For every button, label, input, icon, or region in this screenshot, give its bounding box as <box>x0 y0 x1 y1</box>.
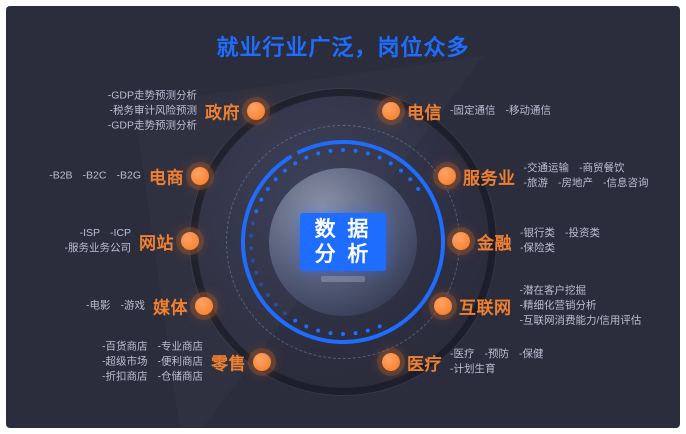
sub-items: -潜在客户挖掘-精细化营销分析-互联网消费能力/信用评估 <box>520 284 642 329</box>
sub-item-row: -电影-游戏 <box>86 299 145 314</box>
page-title: 就业行业广泛，岗位众多 <box>6 30 680 62</box>
sub-items: -B2B-B2C-B2G <box>49 169 141 184</box>
sub-items: -固定通信-移动通信 <box>450 104 551 119</box>
sub-items: -银行类-投资类-保险类 <box>520 226 600 256</box>
sub-items: -医疗-预防-保健-计划生育 <box>450 347 544 377</box>
node-金融[interactable] <box>452 232 470 250</box>
sub-item: -折扣商店 <box>102 370 148 385</box>
category-group-电商[interactable]: -B2B-B2C-B2G电商 <box>6 164 184 189</box>
sub-item-row: -GDP走势预测分析 <box>108 89 197 104</box>
category-group-政府[interactable]: -GDP走势预测分析-税务审计风险预测-GDP走势预测分析政府 <box>6 89 240 134</box>
sub-item-row: -GDP走势预测分析 <box>108 119 197 134</box>
category-label-政府[interactable]: 政府 <box>205 99 240 124</box>
category-group-网站[interactable]: -ISP-ICP-服务业务公司网站 <box>6 226 174 256</box>
node-网站[interactable] <box>181 232 199 250</box>
sub-items: -百货商店-专业商店-超级市场-便利商店-折扣商店-仓储商店 <box>102 340 203 385</box>
sub-item: -商贸餐饮 <box>579 161 625 176</box>
sub-item: -潜在客户挖掘 <box>520 284 587 299</box>
node-政府[interactable] <box>247 102 265 120</box>
sub-item: -互联网消费能力/信用评估 <box>520 314 642 329</box>
category-group-电信[interactable]: 电信-固定通信-移动通信 <box>407 99 680 124</box>
center-base-bar <box>321 276 365 282</box>
category-label-医疗[interactable]: 医疗 <box>407 350 442 375</box>
sub-items: -ISP-ICP-服务业务公司 <box>65 226 132 256</box>
sub-item: -房地产 <box>558 176 593 191</box>
sub-item-row: -潜在客户挖掘 <box>520 284 587 299</box>
sub-item-row: -服务业务公司 <box>65 241 132 256</box>
center-label-line-2: 分 析 <box>315 242 372 267</box>
sub-item: -精细化营销分析 <box>520 299 597 314</box>
sub-item-row: -交通运输-商贸餐饮 <box>524 161 625 176</box>
sub-item: -B2G <box>116 169 141 184</box>
sub-item-row: -互联网消费能力/信用评估 <box>520 314 642 329</box>
sub-item-row: -税务审计风险预测 <box>110 104 198 119</box>
sub-items: -GDP走势预测分析-税务审计风险预测-GDP走势预测分析 <box>108 89 197 134</box>
sub-item-row: -B2B-B2C-B2G <box>49 169 141 184</box>
category-group-互联网[interactable]: 互联网-潜在客户挖掘-精细化营销分析-互联网消费能力/信用评估 <box>459 284 680 329</box>
category-label-零售[interactable]: 零售 <box>211 350 246 375</box>
sub-item: -GDP走势预测分析 <box>108 89 197 104</box>
sub-item-row: -精细化营销分析 <box>520 299 597 314</box>
sub-item: -投资类 <box>565 226 600 241</box>
category-label-金融[interactable]: 金融 <box>477 229 512 254</box>
sub-item-row: -超级市场-便利商店 <box>102 355 203 370</box>
sub-item: -计划生育 <box>450 362 496 377</box>
category-label-网站[interactable]: 网站 <box>139 229 174 254</box>
sub-item: -专业商店 <box>158 340 204 355</box>
node-电信[interactable] <box>382 102 400 120</box>
sub-items: -交通运输-商贸餐饮-旅游-房地产-信息咨询 <box>524 161 649 191</box>
sub-item: -GDP走势预测分析 <box>108 119 197 134</box>
category-label-媒体[interactable]: 媒体 <box>153 294 188 319</box>
sub-item: -ICP <box>110 226 131 241</box>
sub-item-row: -医疗-预防-保健 <box>450 347 544 362</box>
sub-item: -保险类 <box>520 241 555 256</box>
sub-item: -仓储商店 <box>158 370 204 385</box>
sub-item-row: -固定通信-移动通信 <box>450 104 551 119</box>
category-group-医疗[interactable]: 医疗-医疗-预防-保健-计划生育 <box>407 347 680 377</box>
sub-item: -便利商店 <box>158 355 204 370</box>
infographic-canvas: 就业行业广泛，岗位众多 数 据 分 析 -GDP走势预测分析-税务审计风险预测-… <box>6 6 680 428</box>
sub-item: -税务审计风险预测 <box>110 104 198 119</box>
node-电商[interactable] <box>191 167 209 185</box>
sub-item: -交通运输 <box>524 161 570 176</box>
center-label: 数 据 分 析 <box>300 213 386 271</box>
category-label-互联网[interactable]: 互联网 <box>459 294 512 319</box>
category-label-服务业[interactable]: 服务业 <box>463 164 516 189</box>
category-group-服务业[interactable]: 服务业-交通运输-商贸餐饮-旅游-房地产-信息咨询 <box>463 161 680 191</box>
sub-item-row: -折扣商店-仓储商店 <box>102 370 203 385</box>
sub-item-row: -ISP-ICP <box>80 226 131 241</box>
node-媒体[interactable] <box>195 297 213 315</box>
sub-item: -银行类 <box>520 226 555 241</box>
sub-item-row: -保险类 <box>520 241 555 256</box>
sub-item: -百货商店 <box>102 340 148 355</box>
sub-item: -医疗 <box>450 347 475 362</box>
sub-item: -超级市场 <box>102 355 148 370</box>
sub-item: -旅游 <box>524 176 549 191</box>
sub-item-row: -百货商店-专业商店 <box>102 340 203 355</box>
category-label-电商[interactable]: 电商 <box>149 164 184 189</box>
sub-item: -B2B <box>49 169 72 184</box>
sub-items: -电影-游戏 <box>86 299 145 314</box>
node-医疗[interactable] <box>382 353 400 371</box>
category-group-零售[interactable]: -百货商店-专业商店-超级市场-便利商店-折扣商店-仓储商店零售 <box>6 340 246 385</box>
sub-item: -ISP <box>80 226 100 241</box>
center-label-line-1: 数 据 <box>315 217 372 242</box>
node-服务业[interactable] <box>438 167 456 185</box>
sub-item: -预防 <box>485 347 510 362</box>
category-group-媒体[interactable]: -电影-游戏媒体 <box>6 294 188 319</box>
sub-item-row: -旅游-房地产-信息咨询 <box>524 176 649 191</box>
sub-item-row: -银行类-投资类 <box>520 226 600 241</box>
sub-item: -固定通信 <box>450 104 496 119</box>
category-label-电信[interactable]: 电信 <box>407 99 442 124</box>
node-零售[interactable] <box>253 353 271 371</box>
node-互联网[interactable] <box>434 297 452 315</box>
sub-item: -移动通信 <box>506 104 552 119</box>
sub-item-row: -计划生育 <box>450 362 496 377</box>
sub-item: -电影 <box>86 299 111 314</box>
sub-item: -B2C <box>83 169 107 184</box>
sub-item: -信息咨询 <box>603 176 649 191</box>
sub-item: -游戏 <box>121 299 146 314</box>
sub-item: -保健 <box>519 347 544 362</box>
category-group-金融[interactable]: 金融-银行类-投资类-保险类 <box>477 226 680 256</box>
sub-item: -服务业务公司 <box>65 241 132 256</box>
